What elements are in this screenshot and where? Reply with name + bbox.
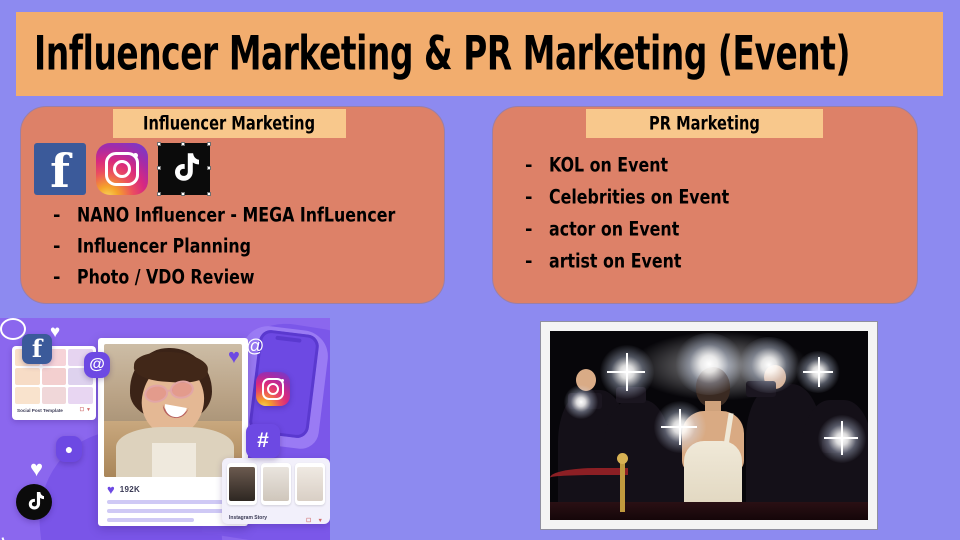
bookmark-icon[interactable]: ☐: [80, 407, 84, 413]
sunglass-lens-left: [143, 383, 170, 405]
selection-handle[interactable]: [157, 142, 161, 146]
template-thumb: [68, 387, 93, 404]
bullet-marker: -: [35, 267, 77, 288]
instagram-lens: [113, 160, 131, 178]
camera-flash: [564, 385, 598, 419]
heart-outline-icon: ♥: [30, 456, 43, 482]
bullet-marker: -: [507, 219, 549, 240]
red-carpet-photo-frame: [540, 321, 878, 530]
selection-handle[interactable]: [157, 192, 161, 196]
selection-handle[interactable]: [181, 142, 185, 146]
list-item: - NANO Influencer - MEGA InfLuencer: [35, 205, 439, 236]
hashtag-badge-icon: #: [246, 424, 280, 458]
bullet-marker: -: [507, 251, 549, 272]
heart-icon: ♥: [107, 484, 115, 495]
template-card-actions: ☐ ▼: [80, 407, 91, 413]
facebook-badge-glyph: f: [32, 336, 42, 362]
list-item: - actor on Event: [507, 219, 754, 251]
tiktok-badge-icon: [16, 484, 52, 520]
bullet-marker: -: [35, 236, 77, 257]
bullet-marker: -: [507, 155, 549, 176]
template-thumb: [15, 368, 40, 385]
story-card-footer: Instagram Story ☐ ▼: [227, 505, 325, 527]
bullet-list-pr: - KOL on Event - Celebrities on Event - …: [507, 155, 754, 283]
flash-streak: [661, 426, 697, 428]
panel-label-influencer-text: Influencer Marketing: [143, 113, 315, 135]
instagram-badge-dot: [281, 379, 284, 382]
story-thumb: [261, 463, 291, 505]
selection-handle[interactable]: [207, 142, 211, 146]
flash-streak: [607, 371, 645, 373]
instagram-badge-lens: [267, 383, 279, 395]
story-card-label: Instagram Story: [229, 515, 267, 521]
template-card-label: Social Post Template: [17, 408, 63, 413]
template-card-footer: Social Post Template ☐ ▼: [15, 404, 93, 413]
instagram-story-card: Instagram Story ☐ ▼: [222, 458, 330, 524]
bookmark-icon[interactable]: ☐: [306, 518, 311, 524]
bullet-marker: -: [507, 187, 549, 208]
bullet-text: Celebrities on Event: [549, 186, 729, 209]
camera-flash: [738, 337, 800, 393]
text-placeholder: [107, 509, 228, 513]
page-title: Influencer Marketing & PR Marketing (Eve…: [16, 27, 850, 81]
bullet-text: Influencer Planning: [77, 235, 251, 258]
velvet-rope: [550, 468, 628, 484]
list-item: - artist on Event: [507, 251, 754, 283]
social-icon-row: f: [34, 143, 210, 195]
user-badge-icon: ●: [56, 436, 82, 462]
download-icon[interactable]: ▼: [318, 518, 323, 524]
panel-influencer-marketing: Influencer Marketing f: [20, 106, 445, 304]
red-carpet: [550, 502, 868, 520]
bullet-text: KOL on Event: [549, 154, 668, 177]
panel-label-pr-text: PR Marketing: [649, 113, 760, 135]
list-item: - Celebrities on Event: [507, 187, 754, 219]
tiktok-icon[interactable]: [158, 143, 210, 195]
template-thumb: [42, 368, 67, 385]
instagram-badge-icon: [256, 372, 290, 406]
like-row: ♥ 192K: [107, 484, 239, 495]
tiktok-note-glyph: [169, 152, 199, 186]
at-outline-icon: @: [246, 336, 264, 357]
list-item: - Influencer Planning: [35, 236, 439, 267]
panel-label-influencer: Influencer Marketing: [113, 109, 346, 138]
template-thumb: [42, 387, 67, 404]
text-placeholder: [107, 518, 194, 522]
shirt-shape: [152, 443, 196, 477]
download-icon[interactable]: ▼: [86, 407, 91, 413]
story-card-actions: ☐ ▼: [304, 509, 323, 527]
stanchion-post: [620, 460, 625, 512]
selection-handle[interactable]: [207, 166, 211, 170]
sunglass-lens-right: [169, 379, 196, 401]
stanchion-ball: [617, 453, 628, 464]
list-item: - KOL on Event: [507, 155, 754, 187]
flash-streak: [824, 437, 858, 439]
list-item: - Photo / VDO Review: [35, 267, 439, 298]
instagram-dot: [133, 153, 138, 158]
selection-handle[interactable]: [157, 166, 161, 170]
bullet-text: actor on Event: [549, 218, 679, 241]
facebook-glyph: f: [34, 146, 86, 196]
story-thumb: [295, 463, 325, 505]
instagram-icon[interactable]: [96, 143, 148, 195]
portrait-photo: [104, 344, 242, 477]
flash-streak: [803, 371, 833, 373]
bullet-text: NANO Influencer - MEGA InfLuencer: [77, 204, 395, 227]
at-badge-icon: @: [84, 352, 110, 378]
bullet-text: artist on Event: [549, 250, 681, 273]
camera-flash: [674, 333, 744, 395]
story-thumbnail-row: [227, 463, 325, 505]
slide-title-banner: Influencer Marketing & PR Marketing (Eve…: [16, 12, 943, 96]
facebook-icon[interactable]: f: [34, 143, 86, 195]
red-carpet-paparazzi-photo: [550, 331, 868, 520]
bullet-text: Photo / VDO Review: [77, 266, 254, 289]
like-count: 192K: [120, 485, 140, 494]
selection-handle[interactable]: [207, 192, 211, 196]
text-placeholder: [107, 500, 236, 504]
bullet-list-influencer: - NANO Influencer - MEGA InfLuencer - In…: [35, 205, 439, 298]
tiktok-badge-note-glyph: [25, 491, 44, 513]
selection-handle[interactable]: [181, 192, 185, 196]
template-thumb: [15, 387, 40, 404]
social-media-influencer-illustration: ♥ 192K Social Post Template ☐ ▼: [0, 318, 330, 540]
slide-canvas: Influencer Marketing & PR Marketing (Eve…: [0, 0, 960, 540]
heart-solid-icon: ♥: [228, 346, 240, 369]
panel-label-pr: PR Marketing: [586, 109, 823, 138]
bullet-marker: -: [35, 205, 77, 226]
panel-pr-marketing: PR Marketing - KOL on Event - Celebritie…: [492, 106, 918, 304]
story-thumb: [227, 463, 257, 505]
facebook-badge-icon: f: [22, 334, 52, 364]
heart-outline-icon: ♥: [50, 322, 60, 342]
